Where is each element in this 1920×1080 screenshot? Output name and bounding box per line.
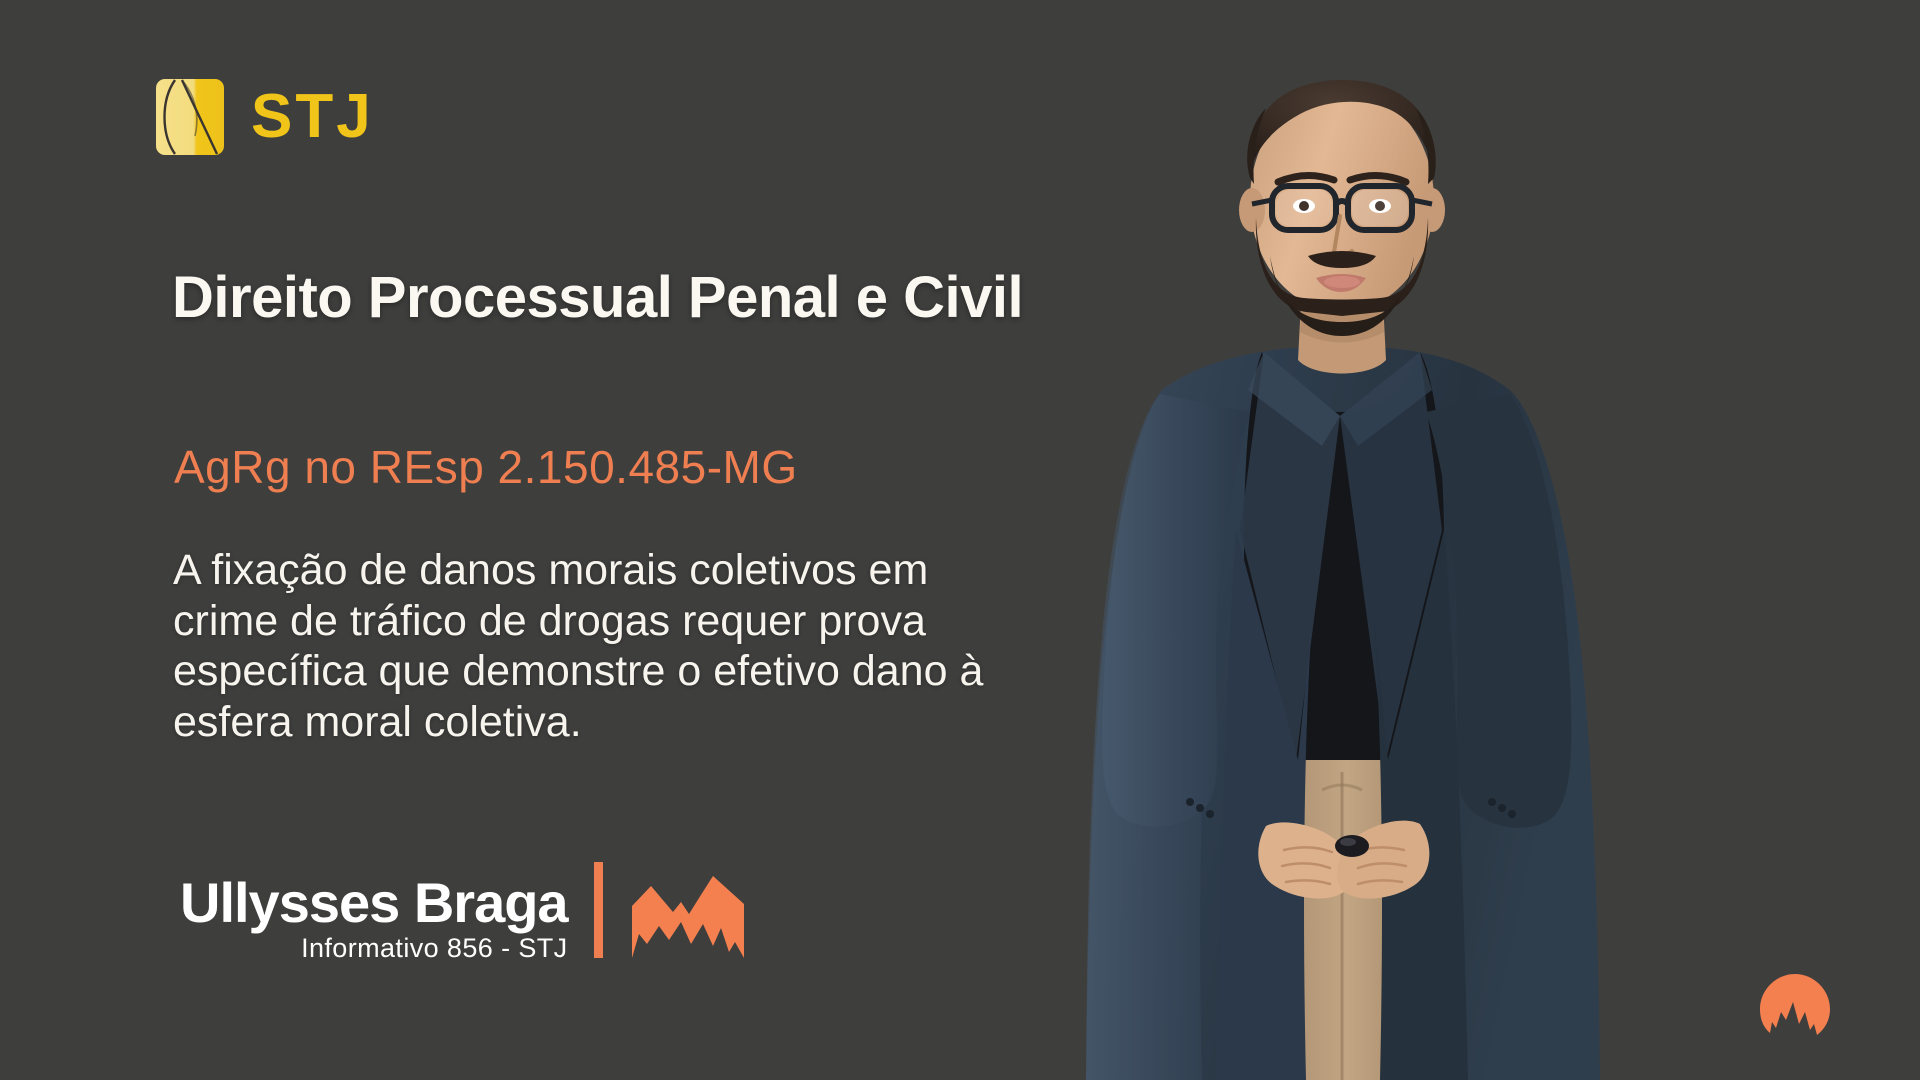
body-paragraph: A fixação de danos morais coletivos em c… xyxy=(173,545,1183,748)
stj-book-mark-icon xyxy=(155,78,225,156)
stj-brand-lockup: STJ xyxy=(155,78,374,156)
signature-text-group: Ullysses Braga Informativo 856 - STJ xyxy=(180,876,568,964)
body-line: específica que demonstre o efetivo dano … xyxy=(173,646,1183,697)
case-reference: AgRg no REsp 2.150.485-MG xyxy=(174,442,798,493)
slide-canvas: STJ Direito Processual Penal e Civil AgR… xyxy=(0,0,1920,1080)
presenter-signature-lockup: Ullysses Braga Informativo 856 - STJ xyxy=(180,862,747,964)
body-line: esfera moral coletiva. xyxy=(173,697,1183,748)
stj-wordmark: STJ xyxy=(251,86,374,148)
mountain-circle-badge-icon xyxy=(1758,972,1832,1046)
presenter-name: Ullysses Braga xyxy=(180,876,568,931)
page-title: Direito Processual Penal e Civil xyxy=(172,268,1023,329)
signature-divider xyxy=(594,862,603,958)
episode-subtitle: Informativo 856 - STJ xyxy=(301,933,568,964)
body-line: crime de tráfico de drogas requer prova xyxy=(173,596,1183,647)
mountain-peaks-icon xyxy=(629,872,747,960)
body-line: A fixação de danos morais coletivos em xyxy=(173,545,1183,596)
